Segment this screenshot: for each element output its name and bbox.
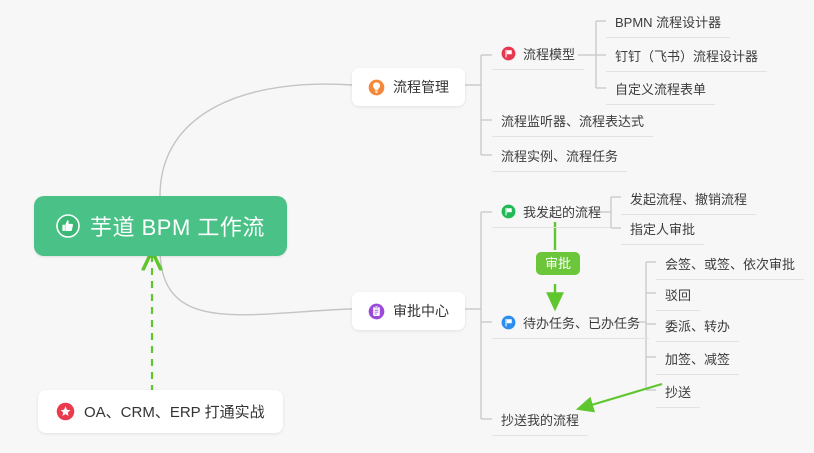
leaf-countersign[interactable]: 会签、或签、依次审批 <box>656 250 804 280</box>
root-node[interactable]: 芋道 BPM 工作流 <box>34 196 287 256</box>
leaf-start-cancel-process[interactable]: 发起流程、撤销流程 <box>621 185 756 215</box>
node-my-started-process[interactable]: 我发起的流程 <box>492 198 610 228</box>
flag-icon <box>501 46 516 61</box>
node-label-process-model: 流程模型 <box>523 44 575 63</box>
leaf-process-instance[interactable]: 流程实例、流程任务 <box>492 142 627 172</box>
flag-icon <box>501 315 516 330</box>
leaf-process-listener[interactable]: 流程监听器、流程表达式 <box>492 107 653 137</box>
wire-root-to-approval-center <box>160 249 352 315</box>
flag-icon <box>501 204 516 219</box>
branch-node-approval-center[interactable]: 审批中心 <box>352 292 465 330</box>
clipboard-icon <box>368 303 385 320</box>
branch-label-approval-center: 审批中心 <box>393 301 449 321</box>
root-label: 芋道 BPM 工作流 <box>90 210 265 242</box>
leaf-dingtalk-designer[interactable]: 钉钉（飞书）流程设计器 <box>606 42 767 72</box>
node-label-todo-done-tasks: 待办任务、已办任务 <box>523 313 640 332</box>
lightbulb-icon <box>368 79 385 96</box>
node-todo-done-tasks[interactable]: 待办任务、已办任务 <box>492 309 649 339</box>
leaf-reject[interactable]: 驳回 <box>656 281 700 311</box>
leaf-custom-form[interactable]: 自定义流程表单 <box>606 75 715 105</box>
leaf-cc-to-me-process[interactable]: 抄送我的流程 <box>492 406 588 436</box>
mindmap-canvas: 芋道 BPM 工作流 流程管理 流程模型 BPMN 流程设计器 钉钉（飞书）流程… <box>0 0 814 453</box>
branch-node-process-management[interactable]: 流程管理 <box>352 68 465 106</box>
leaf-carbon-copy[interactable]: 抄送 <box>656 378 700 408</box>
branch-label-process-management: 流程管理 <box>393 77 449 97</box>
star-icon <box>56 402 75 421</box>
leaf-add-remove-sign[interactable]: 加签、减签 <box>656 345 739 375</box>
node-label-my-started-process: 我发起的流程 <box>523 202 601 221</box>
node-process-model[interactable]: 流程模型 <box>492 40 584 70</box>
cc-arrow-left <box>578 384 662 409</box>
integration-callout-label: OA、CRM、ERP 打通实战 <box>84 401 265 422</box>
leaf-assigned-approval[interactable]: 指定人审批 <box>621 215 704 245</box>
thumbs-up-icon <box>56 214 80 238</box>
integration-callout-node[interactable]: OA、CRM、ERP 打通实战 <box>38 390 283 433</box>
approval-tag-badge[interactable]: 审批 <box>536 252 580 275</box>
leaf-bpmn-designer[interactable]: BPMN 流程设计器 <box>606 8 730 38</box>
leaf-delegate-transfer[interactable]: 委派、转办 <box>656 312 739 342</box>
wire-root-to-process-management <box>160 84 352 196</box>
